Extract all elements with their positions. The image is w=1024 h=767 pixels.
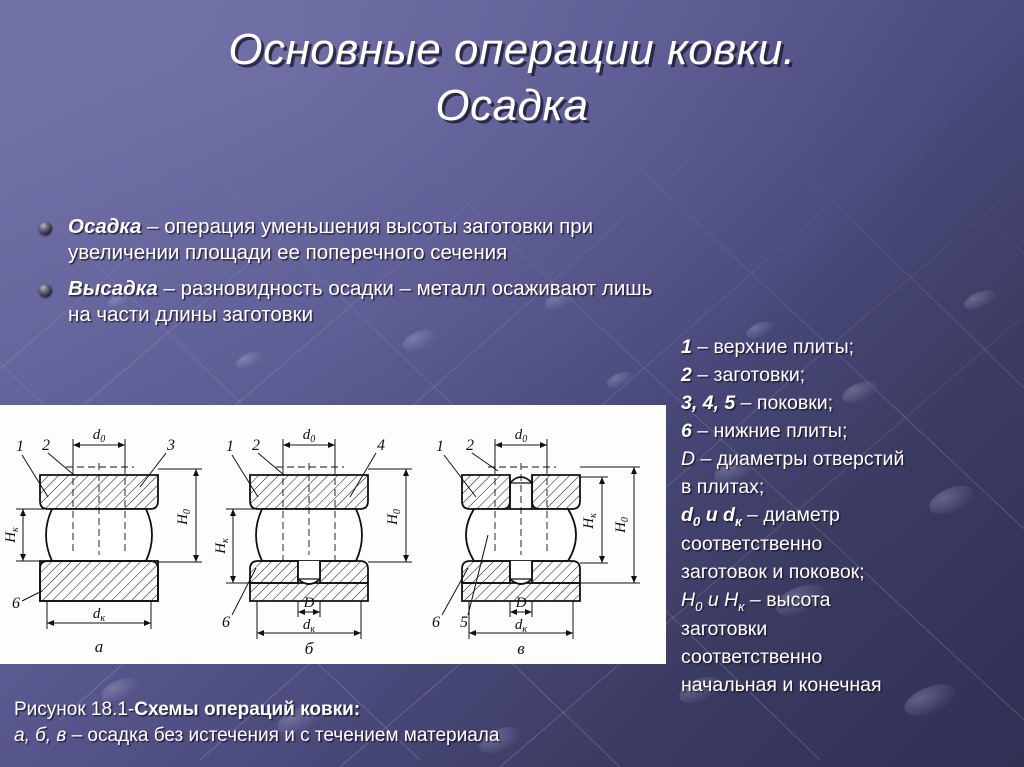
svg-text:2: 2 [252, 437, 260, 454]
legend-symbol: H0 и Hк [681, 589, 745, 611]
diagram-a: d0 dк [3, 427, 202, 656]
legend-list: 1 – верхние плиты; 2 – заготовки; 3, 4, … [681, 334, 1019, 700]
list-item: Высадка – разновидность осадки – металл … [36, 276, 676, 329]
legend-symbol: 6 [681, 420, 692, 442]
bullet-lead-term: Осадка [68, 215, 141, 238]
legend-text: заготовки [681, 618, 767, 640]
legend-item: 2 – заготовки; [681, 362, 1019, 390]
svg-text:б: б [305, 639, 314, 658]
svg-text:1: 1 [436, 438, 444, 455]
svg-text:1: 1 [16, 438, 24, 455]
svg-text:D: D [515, 595, 527, 611]
legend-symbol: 1 [681, 336, 692, 358]
page-title: Основные операции ковки. Осадка [0, 22, 1024, 135]
legend-item: в плитах; [681, 474, 1019, 502]
svg-text:2: 2 [466, 437, 474, 454]
legend-symbol: d0 и dк [681, 504, 742, 526]
legend-text: – диаметр [742, 504, 840, 526]
legend-symbol: 3, 4, 5 [681, 392, 735, 414]
legend-text: – поковки; [735, 392, 833, 414]
caption-sub-labels: а, б, в [14, 725, 66, 746]
legend-text: заготовок и поковок; [681, 561, 865, 583]
title-line-2: Осадка [0, 78, 1024, 134]
bullet-list: Осадка – операция уменьшения высоты заго… [36, 214, 676, 338]
svg-text:Hк: Hк [213, 538, 231, 555]
figure-caption: Рисунок 18.1-Схемы операций ковки: а, б,… [14, 697, 664, 749]
caption-line-1: Рисунок 18.1-Схемы операций ковки: [14, 697, 664, 723]
legend-item: D – диаметры отверстий [681, 446, 1019, 474]
svg-text:6: 6 [222, 614, 230, 631]
svg-text:H0: H0 [385, 509, 403, 526]
svg-text:dк: dк [515, 617, 528, 635]
legend-text: – нижние плиты; [692, 420, 848, 442]
bullet-lead-term: Высадка [68, 277, 158, 300]
caption-title: Схемы операций ковки: [134, 699, 360, 720]
svg-text:d0: d0 [515, 427, 528, 445]
legend-item: d0 и dк – диаметр [681, 502, 1019, 531]
legend-item: 1 – верхние плиты; [681, 334, 1019, 362]
svg-text:H0: H0 [613, 517, 631, 534]
caption-line-2: а, б, в – осадка без истечения и с течен… [14, 723, 664, 749]
legend-item: 6 – нижние плиты; [681, 418, 1019, 446]
diagram-c: d0 D [432, 427, 640, 658]
svg-text:6: 6 [432, 614, 440, 631]
legend-item: соответственно [681, 531, 1019, 559]
forging-schemes-drawing: d0 dк [0, 405, 666, 664]
caption-prefix: Рисунок 18.1- [14, 699, 134, 720]
svg-text:5: 5 [460, 614, 468, 631]
slide-root: Основные операции ковки. Осадка Осадка –… [0, 0, 1024, 767]
svg-text:Hк: Hк [3, 527, 21, 544]
legend-text: соответственно [681, 646, 822, 668]
title-line-1: Основные операции ковки. [0, 22, 1024, 78]
legend-symbol: D [681, 448, 695, 470]
svg-text:dк: dк [93, 606, 106, 624]
legend-item: H0 и Hк – высота [681, 587, 1019, 616]
svg-text:d0: d0 [303, 427, 316, 445]
sphere-bullet-icon [39, 222, 52, 235]
svg-text:2: 2 [42, 437, 50, 454]
svg-text:H0: H0 [175, 509, 193, 526]
svg-text:а: а [95, 637, 104, 656]
svg-text:4: 4 [377, 437, 385, 454]
legend-text: – диаметры отверстий [695, 448, 904, 470]
svg-text:Hк: Hк [581, 513, 599, 530]
legend-item: 3, 4, 5 – поковки; [681, 390, 1019, 418]
legend-text: – заготовки; [692, 364, 805, 386]
diagram-b: d0 D [213, 427, 412, 658]
svg-text:6: 6 [12, 595, 20, 612]
svg-text:d0: d0 [93, 427, 106, 445]
list-item: Осадка – операция уменьшения высоты заго… [36, 214, 676, 267]
sphere-bullet-icon [39, 284, 52, 297]
svg-text:D: D [303, 595, 315, 611]
legend-text: соответственно [681, 533, 822, 555]
svg-text:в: в [517, 639, 525, 658]
legend-item: заготовки [681, 616, 1019, 644]
caption-sub-text: – осадка без истечения и с течением мате… [66, 725, 499, 746]
legend-text: – верхние плиты; [692, 336, 854, 358]
legend-text: – высота [745, 589, 831, 611]
svg-text:1: 1 [226, 438, 234, 455]
legend-item: заготовок и поковок; [681, 559, 1019, 587]
legend-text: в плитах; [681, 476, 764, 498]
bullet-body-text: – операция уменьшения высоты заготовки п… [68, 215, 593, 264]
legend-item: начальная и конечная [681, 672, 1019, 700]
svg-text:dк: dк [303, 617, 316, 635]
legend-text: начальная и конечная [681, 674, 882, 696]
legend-item: соответственно [681, 644, 1019, 672]
svg-text:3: 3 [166, 437, 175, 454]
figure-image-panel: d0 dк [0, 405, 666, 664]
legend-symbol: 2 [681, 364, 692, 386]
